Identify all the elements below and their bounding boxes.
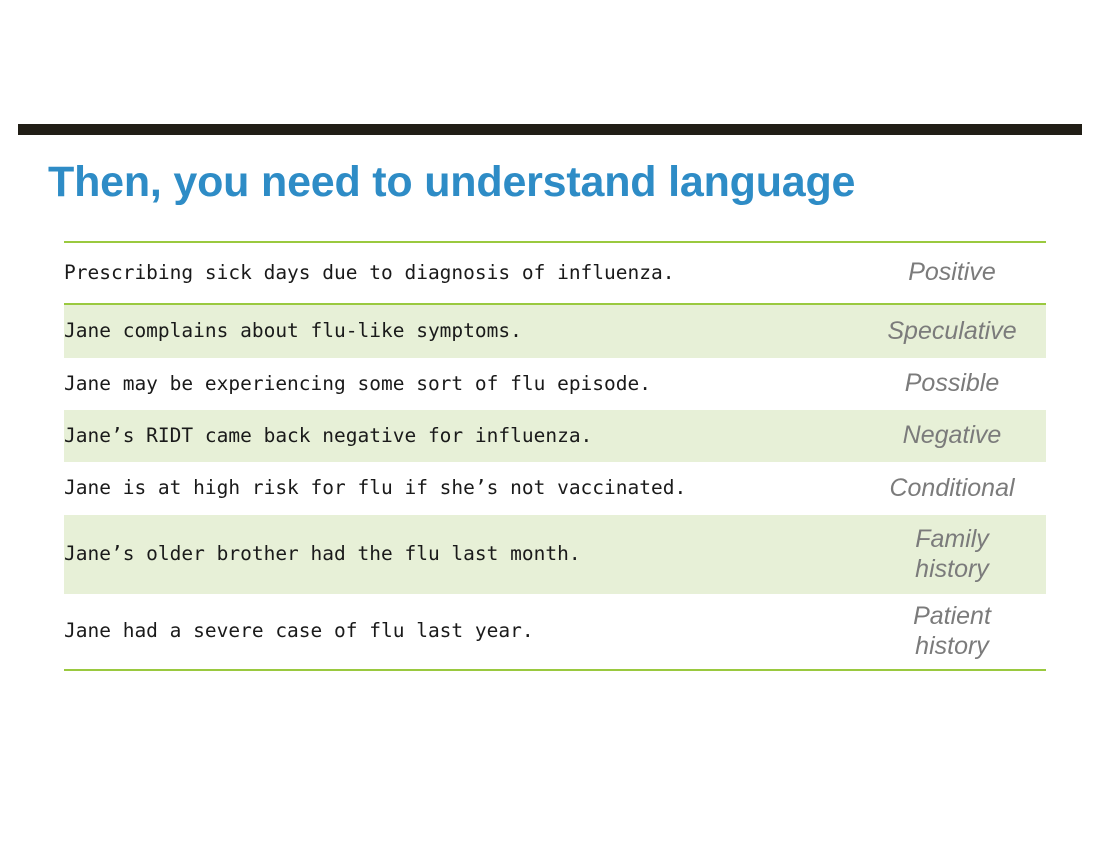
label-line-1: Speculative	[858, 317, 1046, 347]
table-row: Prescribing sick days due to diagnosis o…	[64, 242, 1046, 304]
label-line-1: Positive	[858, 258, 1046, 288]
sentence-cell: Jane’s older brother had the flu last mo…	[64, 515, 858, 594]
label-line-2: history	[858, 632, 1046, 662]
label-line-1: Conditional	[858, 474, 1046, 504]
sentence-cell: Prescribing sick days due to diagnosis o…	[64, 242, 858, 304]
label-line-1: Patient	[858, 602, 1046, 632]
label-cell: Negative	[858, 410, 1046, 462]
label-cell: Conditional	[858, 462, 1046, 515]
table-body: Prescribing sick days due to diagnosis o…	[64, 242, 1046, 670]
label-cell: Positive	[858, 242, 1046, 304]
table-row: Jane’s older brother had the flu last mo…	[64, 515, 1046, 594]
sentence-cell: Jane had a severe case of flu last year.	[64, 594, 858, 670]
sentence-cell: Jane complains about flu-like symptoms.	[64, 304, 858, 358]
sentence-cell: Jane’s RIDT came back negative for influ…	[64, 410, 858, 462]
table-row: Jane’s RIDT came back negative for influ…	[64, 410, 1046, 462]
label-cell: Speculative	[858, 304, 1046, 358]
sentence-cell: Jane may be experiencing some sort of fl…	[64, 358, 858, 410]
table-row: Jane had a severe case of flu last year.…	[64, 594, 1046, 670]
table-row: Jane may be experiencing some sort of fl…	[64, 358, 1046, 410]
label-cell: Possible	[858, 358, 1046, 410]
table-row: Jane is at high risk for flu if she’s no…	[64, 462, 1046, 515]
sentence-cell: Jane is at high risk for flu if she’s no…	[64, 462, 858, 515]
label-line-1: Negative	[858, 421, 1046, 451]
table-row: Jane complains about flu-like symptoms. …	[64, 304, 1046, 358]
title-divider-bar	[18, 124, 1082, 135]
label-line-1: Family	[858, 525, 1046, 555]
language-examples-table: Prescribing sick days due to diagnosis o…	[64, 241, 1046, 671]
label-cell: Patient history	[858, 594, 1046, 670]
label-line-2: history	[858, 555, 1046, 585]
label-cell: Family history	[858, 515, 1046, 594]
page-title: Then, you need to understand language	[48, 160, 1058, 205]
label-line-1: Possible	[858, 369, 1046, 399]
